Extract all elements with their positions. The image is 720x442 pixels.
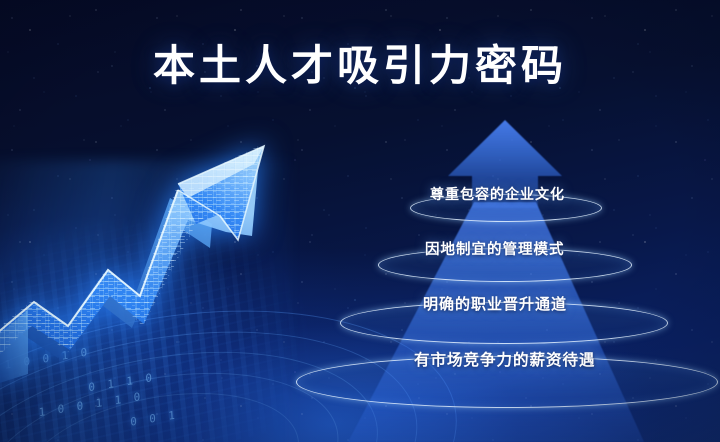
tier-label-4: 有市场竞争力的薪资待遇 (414, 348, 596, 370)
page-title: 本土人才吸引力密码 (0, 32, 720, 93)
tier-label-3: 明确的职业晋升通道 (423, 293, 567, 314)
funnel-arrow (252, 112, 720, 442)
poster-canvas: 1 0 0 1 0 0 1 1 0 1 0 0 1 1 0 0 0 1 (0, 0, 720, 442)
tier-label-1: 尊重包容的企业文化 (430, 184, 565, 204)
binary-row: 1 0 0 1 1 0 (38, 390, 143, 420)
tier-label-2: 因地制宜的管理模式 (425, 238, 565, 259)
binary-row: 0 0 1 (130, 408, 178, 429)
growth-arrow (0, 128, 302, 388)
funnel-beam-svg (252, 112, 720, 442)
